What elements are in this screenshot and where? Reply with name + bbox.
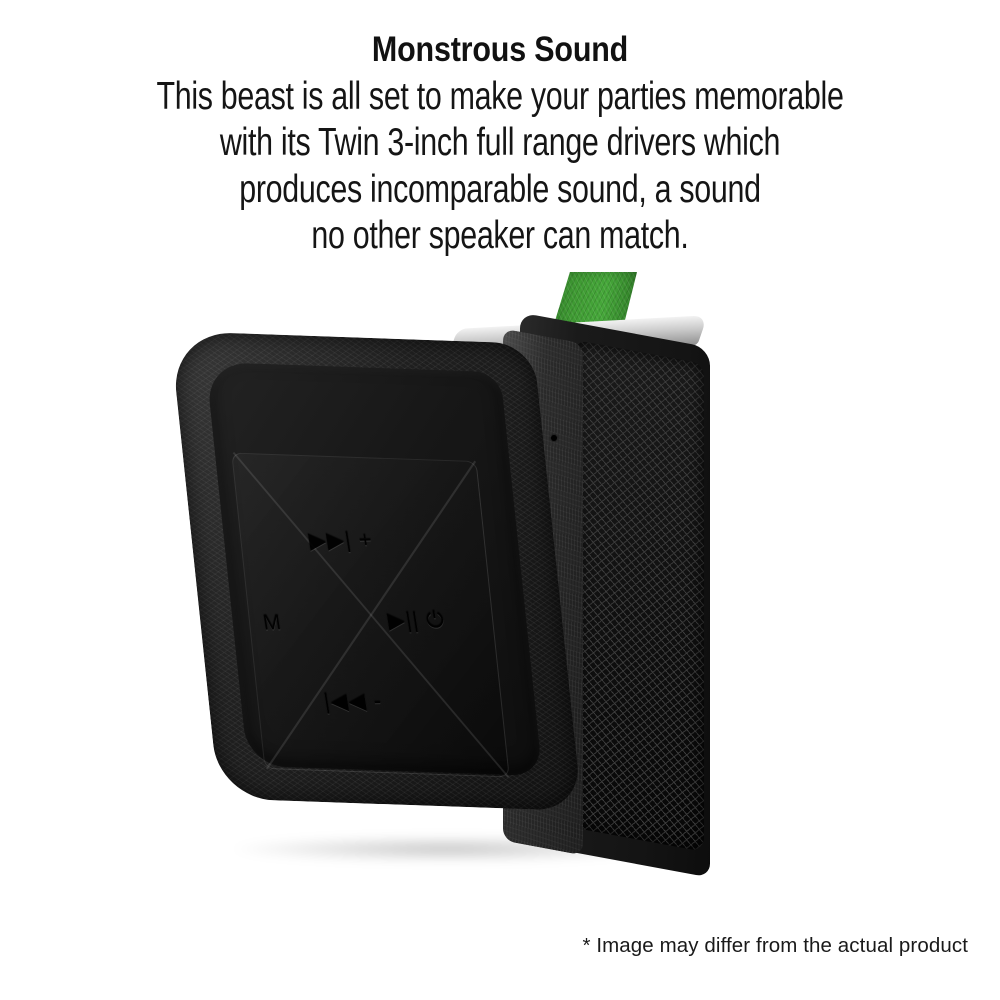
description-text: This beast is all set to make your parti… (110, 69, 890, 260)
description-line: produces incomparable sound, a sound (110, 167, 890, 213)
top-face-highlight (447, 315, 708, 359)
carry-strap (551, 272, 637, 334)
speaker-right-body (520, 312, 710, 877)
previous-track-volume-down-icon: |◀◀ - (322, 690, 384, 713)
control-panel-face (205, 362, 542, 776)
description-line: no other speaker can match. (110, 213, 890, 259)
control-panel-bezel (170, 331, 582, 811)
contact-shadow (232, 836, 662, 862)
marketing-copy: Monstrous Sound This beast is all set to… (0, 0, 1000, 259)
mode-button-icon: M (262, 612, 284, 633)
disclaimer-text: * Image may differ from the actual produ… (0, 934, 1000, 958)
speaker-grille (576, 340, 704, 852)
control-pad: ▶▶| + ▶|| ⏻ M |◀◀ - (231, 453, 509, 778)
description-line: This beast is all set to make your parti… (110, 74, 890, 120)
page-title: Monstrous Sound (65, 0, 935, 69)
description-line: with its Twin 3-inch full range drivers … (110, 120, 890, 166)
control-pad-diagonal (232, 452, 508, 777)
play-pause-power-icon: ▶|| ⏻ (386, 609, 446, 632)
speaker-side-rail (503, 329, 583, 856)
microphone-pinhole (551, 435, 557, 441)
control-pad-diagonal (266, 461, 476, 770)
next-track-volume-up-icon: ▶▶| + (307, 529, 374, 552)
control-pad-outline (231, 453, 509, 778)
